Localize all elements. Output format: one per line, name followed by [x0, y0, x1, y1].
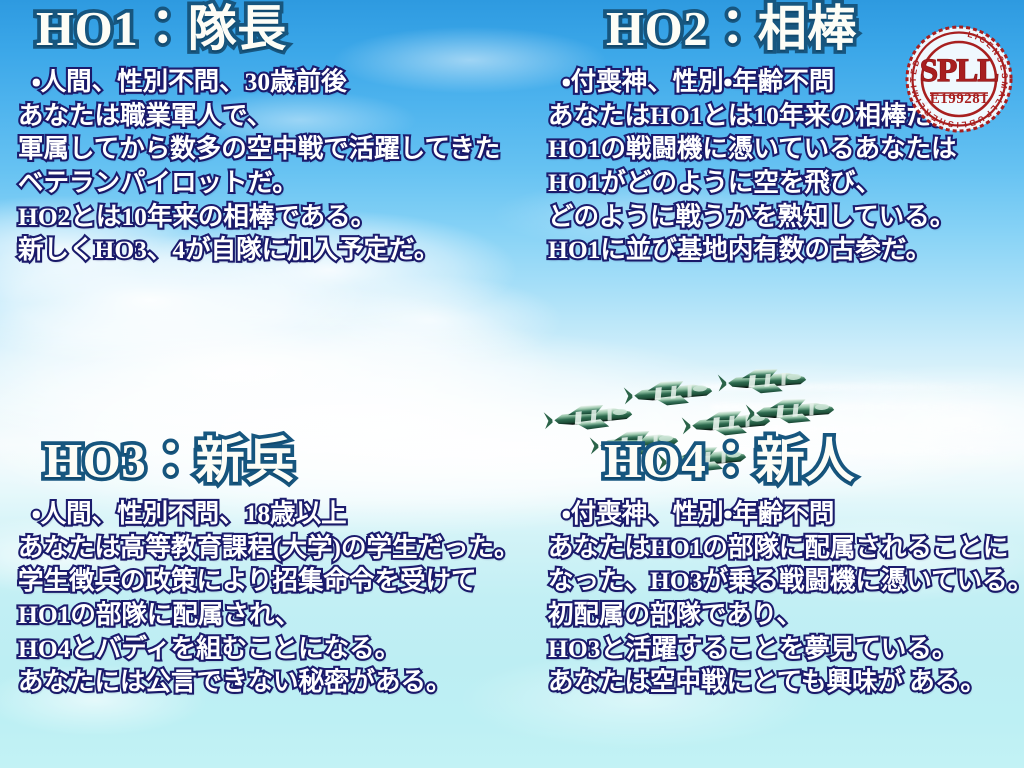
handout-line: 初配属の部隊であり、 [548, 598, 1018, 632]
handout-block-ho04: HO4：新人 ・付喪神、性別・年齢不問 あなたはHO1の部隊に配属されることに … [548, 436, 1018, 699]
handout-block-ho01: HO1：隊長 ・人間、性別不問、30歳前後 あなたは職業軍人で、 軍属してから数… [18, 4, 518, 267]
handout-line: HO1がどのように空を飛び、 [548, 166, 1018, 200]
handout-block-ho03: HO3：新兵 ・人間、性別不問、18歳以上 あなたは高等教育課程(大学)の学生だ… [18, 436, 518, 699]
handout-line: 軍属してから数多の空中戦で活躍してきた [18, 132, 518, 166]
handout-line: 学生徴兵の政策により招集命令を受けて [18, 564, 518, 598]
spll-stamp-icon: LICENSESMALLPUBLISHERLIMITED [903, 23, 1015, 135]
handout-title-ho01: HO1：隊長 [18, 4, 518, 53]
handout-line: あなたには公言できない秘密がある。 [18, 665, 518, 699]
handout-line: HO1の戦闘機に憑いているあなたは [548, 132, 1018, 166]
handout-line: なった、HO3が乗る戦闘機に憑いている。 [548, 564, 1018, 598]
handout-title-ho04: HO4：新人 [548, 436, 1018, 485]
handout-line: あなたはHO1の部隊に配属されることに [548, 531, 1018, 565]
handout-line: ベテランパイロットだ。 [18, 166, 518, 200]
handout-line: HO4とバディを組むことになる。 [18, 632, 518, 666]
handout-poster: HO1：隊長 ・人間、性別不問、30歳前後 あなたは職業軍人で、 軍属してから数… [0, 0, 1024, 768]
handout-line: HO1に並び基地内有数の古参だ。 [548, 233, 1018, 267]
handout-line: HO3と活躍することを夢見ている。 [548, 632, 1018, 666]
handout-description-ho01: ・人間、性別不問、30歳前後 あなたは職業軍人で、 軍属してから数多の空中戦で活… [18, 65, 518, 267]
handout-line: ・人間、性別不問、30歳前後 [18, 65, 518, 99]
handout-line: どのように戦うかを熟知している。 [548, 200, 1018, 234]
handout-description-ho04: ・付喪神、性別・年齢不問 あなたはHO1の部隊に配属されることに なった、HO3… [548, 497, 1018, 699]
handout-line: あなたは高等教育課程(大学)の学生だった。 [18, 531, 518, 565]
handout-line: 新しくHO3、4が自隊に加入予定だ。 [18, 233, 518, 267]
handout-line: ・付喪神、性別・年齢不問 [548, 497, 1018, 531]
handout-line: HO1の部隊に配属され、 [18, 598, 518, 632]
handout-line: ・人間、性別不問、18歳以上 [18, 497, 518, 531]
handout-line: HO2とは10年来の相棒である。 [18, 200, 518, 234]
handout-line: あなたは職業軍人で、 [18, 99, 518, 133]
handout-title-ho03: HO3：新兵 [18, 436, 518, 485]
spll-license-stamp: LICENSESMALLPUBLISHERLIMITED SPLL E19928… [903, 23, 1015, 135]
handout-line: あなたは空中戦にとても興味が ある。 [548, 665, 1018, 699]
handout-description-ho03: ・人間、性別不問、18歳以上 あなたは高等教育課程(大学)の学生だった。 学生徴… [18, 497, 518, 699]
